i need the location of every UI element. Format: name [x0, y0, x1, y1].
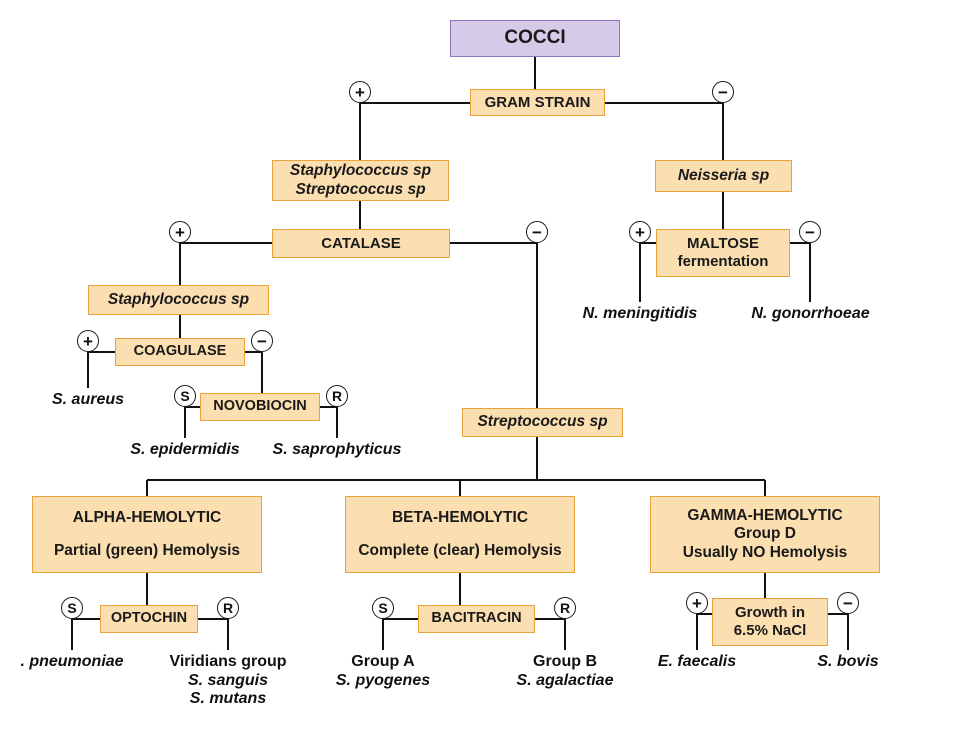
node-staph-strep-sp[interactable]: Staphylococcus sp Streptococcus sp — [272, 160, 449, 201]
node-maltose-line2: fermentation — [678, 253, 769, 271]
label-n-gonorrhoeae-text: N. gonorrhoeae — [738, 305, 883, 324]
node-gram-strain[interactable]: GRAM STRAIN — [470, 89, 605, 116]
label-s-saprophyticus: S. saprophyticus — [256, 441, 418, 460]
node-neisseria-sp[interactable]: Neisseria sp — [655, 160, 792, 192]
marker-catalase-positive: + — [169, 221, 191, 243]
label-s-bovis-text: S. bovis — [783, 653, 913, 672]
marker-novobiocin-resistant-glyph: R — [332, 388, 342, 404]
marker-nacl-negative-glyph: − — [843, 595, 853, 612]
node-streptococcus-sp[interactable]: Streptococcus sp — [462, 408, 623, 437]
marker-maltose-negative-glyph: − — [805, 224, 815, 241]
marker-optochin-sensitive-glyph: S — [67, 600, 76, 616]
label-s-agalactiae: S. agalactiae — [495, 672, 635, 691]
label-e-faecalis-text: E. faecalis — [627, 653, 767, 672]
label-s-aureus-text: S. aureus — [23, 391, 153, 410]
marker-optochin-sensitive: S — [61, 597, 83, 619]
label-s-sanguis: S. sanguis — [153, 672, 303, 691]
label-s-pneumoniae-text: . pneumoniae — [0, 653, 150, 672]
node-catalase[interactable]: CATALASE — [272, 229, 450, 258]
marker-nacl-positive-glyph: + — [692, 595, 702, 612]
label-n-gonorrhoeae: N. gonorrhoeae — [738, 305, 883, 324]
node-gram-strain-label: GRAM STRAIN — [485, 94, 591, 112]
marker-maltose-positive-glyph: + — [635, 224, 645, 241]
flowchart-canvas: COCCI GRAM STRAIN Staphylococcus sp Stre… — [0, 0, 962, 743]
node-gamma-hemolytic[interactable]: GAMMA-HEMOLYTIC Group D Usually NO Hemol… — [650, 496, 880, 573]
node-alpha-line2: Partial (green) Hemolysis — [54, 542, 240, 560]
marker-optochin-resistant: R — [217, 597, 239, 619]
marker-nacl-negative: − — [837, 592, 859, 614]
marker-bacitracin-resistant: R — [554, 597, 576, 619]
marker-gram-negative-glyph: − — [718, 84, 728, 101]
marker-nacl-positive: + — [686, 592, 708, 614]
node-nacl-line1: Growth in — [735, 604, 805, 622]
marker-novobiocin-sensitive-glyph: S — [180, 388, 189, 404]
marker-catalase-negative-glyph: − — [532, 224, 542, 241]
label-s-mutans: S. mutans — [153, 690, 303, 709]
marker-bacitracin-sensitive-glyph: S — [378, 600, 387, 616]
marker-optochin-resistant-glyph: R — [223, 600, 233, 616]
marker-coagulase-negative: − — [251, 330, 273, 352]
label-group-a: Group A S. pyogenes — [313, 653, 453, 690]
label-s-saprophyticus-text: S. saprophyticus — [256, 441, 418, 460]
marker-coagulase-positive-glyph: + — [83, 333, 93, 350]
label-s-epidermidis: S. epidermidis — [110, 441, 260, 460]
marker-maltose-negative: − — [799, 221, 821, 243]
node-novobiocin[interactable]: NOVOBIOCIN — [200, 393, 320, 421]
label-viridians-header: Viridians group — [153, 653, 303, 672]
marker-maltose-positive: + — [629, 221, 651, 243]
label-s-pyogenes: S. pyogenes — [313, 672, 453, 691]
label-e-faecalis: E. faecalis — [627, 653, 767, 672]
marker-gram-negative: − — [712, 81, 734, 103]
node-cocci[interactable]: COCCI — [450, 20, 620, 57]
label-group-a-header: Group A — [313, 653, 453, 672]
marker-novobiocin-resistant: R — [326, 385, 348, 407]
marker-bacitracin-sensitive: S — [372, 597, 394, 619]
node-beta-line1: BETA-HEMOLYTIC — [392, 509, 528, 527]
node-coagulase[interactable]: COAGULASE — [115, 338, 245, 366]
marker-gram-positive-glyph: + — [355, 84, 365, 101]
node-gamma-line3: Usually NO Hemolysis — [683, 544, 848, 562]
label-n-meningitidis-text: N. meningitidis — [570, 305, 710, 324]
node-staphylococcus-sp[interactable]: Staphylococcus sp — [88, 285, 269, 315]
node-alpha-line1: ALPHA-HEMOLYTIC — [73, 509, 221, 527]
label-group-b-header: Group B — [495, 653, 635, 672]
node-maltose-line1: MALTOSE — [687, 235, 759, 253]
marker-catalase-positive-glyph: + — [175, 224, 185, 241]
node-staph-strep-line1: Staphylococcus sp — [290, 162, 431, 180]
node-staph-strep-line2: Streptococcus sp — [295, 181, 425, 199]
node-optochin[interactable]: OPTOCHIN — [100, 605, 198, 633]
node-catalase-label: CATALASE — [321, 235, 400, 253]
node-novobiocin-label: NOVOBIOCIN — [213, 398, 306, 415]
marker-novobiocin-sensitive: S — [174, 385, 196, 407]
label-s-pneumoniae: . pneumoniae — [0, 653, 150, 672]
node-streptococcus-label: Streptococcus sp — [477, 413, 607, 431]
marker-catalase-negative: − — [526, 221, 548, 243]
label-group-b: Group B S. agalactiae — [495, 653, 635, 690]
node-bacitracin[interactable]: BACITRACIN — [418, 605, 535, 633]
node-growth-nacl[interactable]: Growth in 6.5% NaCl — [712, 598, 828, 646]
marker-coagulase-positive: + — [77, 330, 99, 352]
node-gamma-line2: Group D — [734, 525, 796, 543]
node-maltose-fermentation[interactable]: MALTOSE fermentation — [656, 229, 790, 277]
node-alpha-hemolytic[interactable]: ALPHA-HEMOLYTIC Partial (green) Hemolysi… — [32, 496, 262, 573]
node-gamma-line1: GAMMA-HEMOLYTIC — [687, 507, 842, 525]
node-optochin-label: OPTOCHIN — [111, 610, 187, 627]
node-beta-hemolytic[interactable]: BETA-HEMOLYTIC Complete (clear) Hemolysi… — [345, 496, 575, 573]
node-cocci-label: COCCI — [504, 27, 565, 49]
node-neisseria-label: Neisseria sp — [678, 167, 769, 185]
label-s-aureus: S. aureus — [23, 391, 153, 410]
node-coagulase-label: COAGULASE — [134, 343, 227, 360]
label-n-meningitidis: N. meningitidis — [570, 305, 710, 324]
marker-gram-positive: + — [349, 81, 371, 103]
label-s-epidermidis-text: S. epidermidis — [110, 441, 260, 460]
marker-coagulase-negative-glyph: − — [257, 333, 267, 350]
node-nacl-line2: 6.5% NaCl — [734, 622, 807, 640]
label-s-bovis: S. bovis — [783, 653, 913, 672]
node-beta-line2: Complete (clear) Hemolysis — [358, 542, 561, 560]
label-viridians-group: Viridians group S. sanguis S. mutans — [153, 653, 303, 709]
node-bacitracin-label: BACITRACIN — [431, 610, 521, 627]
node-staphylococcus-label: Staphylococcus sp — [108, 291, 249, 309]
marker-bacitracin-resistant-glyph: R — [560, 600, 570, 616]
